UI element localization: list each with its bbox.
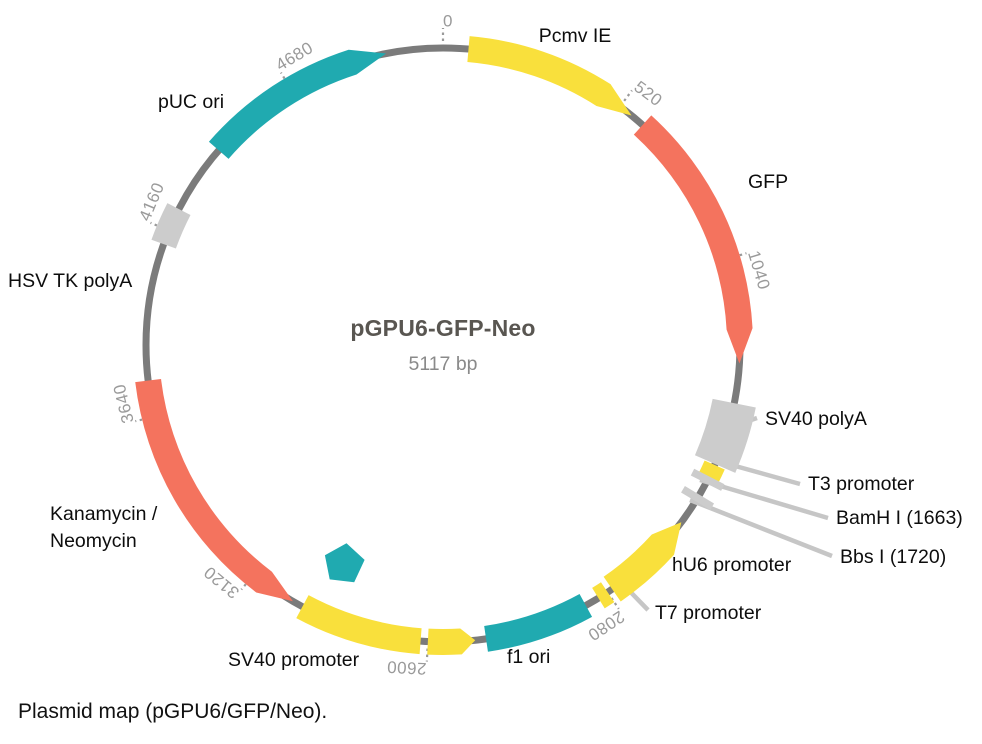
tick-2600: 2600 xyxy=(386,649,427,678)
feature-label: BamH I (1663) xyxy=(836,507,963,529)
plasmid-name: pGPU6-GFP-Neo xyxy=(350,315,535,341)
feature-label: T3 promoter xyxy=(808,473,915,495)
tick-label: 1040 xyxy=(744,248,774,292)
feature-f1-ori[interactable] xyxy=(484,594,592,652)
marker-layer xyxy=(325,543,365,582)
feature-gfp[interactable] xyxy=(634,115,753,363)
tick-label: 2080 xyxy=(584,607,628,645)
figure-caption: Plasmid map (pGPU6/GFP/Neo). xyxy=(18,700,327,724)
feature-pcmv-ie[interactable] xyxy=(467,36,631,115)
feature-label: SV40 promoter xyxy=(228,649,360,671)
feature-sv40-promoter-2[interactable] xyxy=(296,595,421,654)
feature-label: Kanamycin / xyxy=(50,503,158,525)
feature-label-layer: Pcmv IEGFPSV40 polyAT3 promoterBamH I (1… xyxy=(8,25,963,671)
feature-puc-ori[interactable] xyxy=(209,50,386,159)
feature-label: HSV TK polyA xyxy=(8,270,132,292)
plasmid-size: 5117 bp xyxy=(408,353,477,375)
plasmid-map: 05201040208026003120364041604680 Pcmv IE… xyxy=(0,0,982,744)
feature-label: Pcmv IE xyxy=(539,25,612,47)
feature-label: T7 promoter xyxy=(655,602,762,624)
feature-label: Bbs I (1720) xyxy=(840,546,946,568)
feature-layer xyxy=(135,36,756,655)
tick-label: 3640 xyxy=(110,382,138,425)
tick-520: 520 xyxy=(624,77,666,110)
tick-0: 0 xyxy=(443,11,453,41)
feature-label-line2: Neomycin xyxy=(50,530,137,552)
feature-hu6-promoter[interactable] xyxy=(604,522,682,601)
feature-label: pUC ori xyxy=(158,91,224,113)
shrna-marker[interactable] xyxy=(325,543,365,582)
feature-label: GFP xyxy=(748,171,788,193)
feature-label: SV40 polyA xyxy=(765,408,867,430)
feature-label: f1 ori xyxy=(507,646,550,668)
tick-label: 2600 xyxy=(386,657,427,678)
feature-sv40-polya[interactable] xyxy=(695,399,756,473)
tick-label: 0 xyxy=(443,11,453,30)
feature-label: hU6 promoter xyxy=(672,554,792,576)
center-label-group: pGPU6-GFP-Neo 5117 bp xyxy=(350,315,535,375)
plasmid-map-svg: 05201040208026003120364041604680 Pcmv IE… xyxy=(0,0,982,744)
leader-line xyxy=(690,500,832,556)
tick-label: 520 xyxy=(630,77,665,110)
feature-sv40-promoter[interactable] xyxy=(427,628,475,655)
